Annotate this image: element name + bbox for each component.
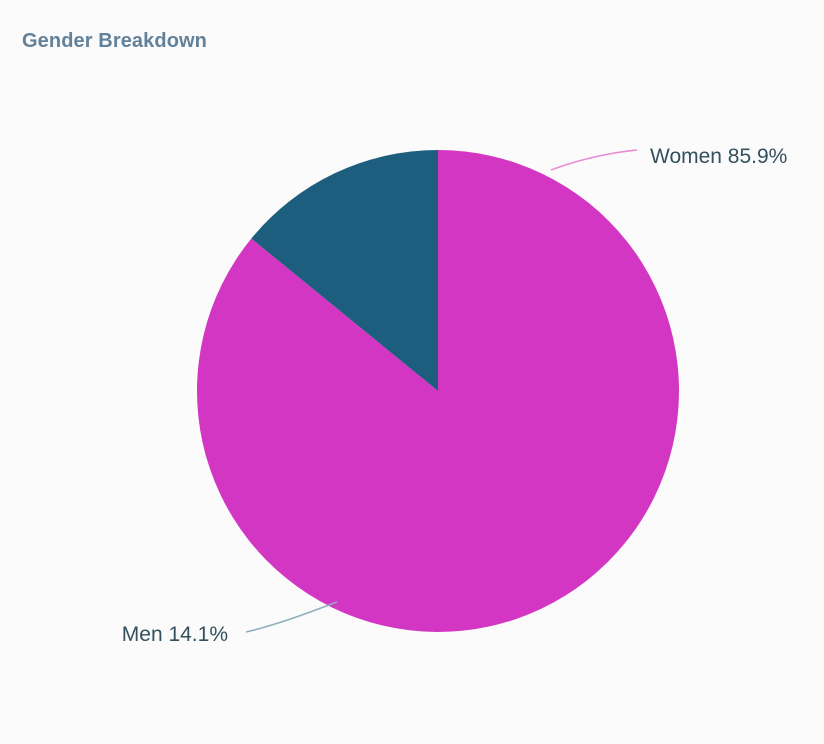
leader-line-men xyxy=(246,602,337,632)
pie-chart-panel: Gender Breakdown Women 85.9% Men 14.1% xyxy=(0,0,824,744)
leader-line-women xyxy=(551,150,637,170)
pie-chart-svg: Women 85.9% Men 14.1% xyxy=(0,0,824,744)
pie-label-women: Women 85.9% xyxy=(650,145,787,168)
pie-label-men: Men 14.1% xyxy=(122,623,228,646)
